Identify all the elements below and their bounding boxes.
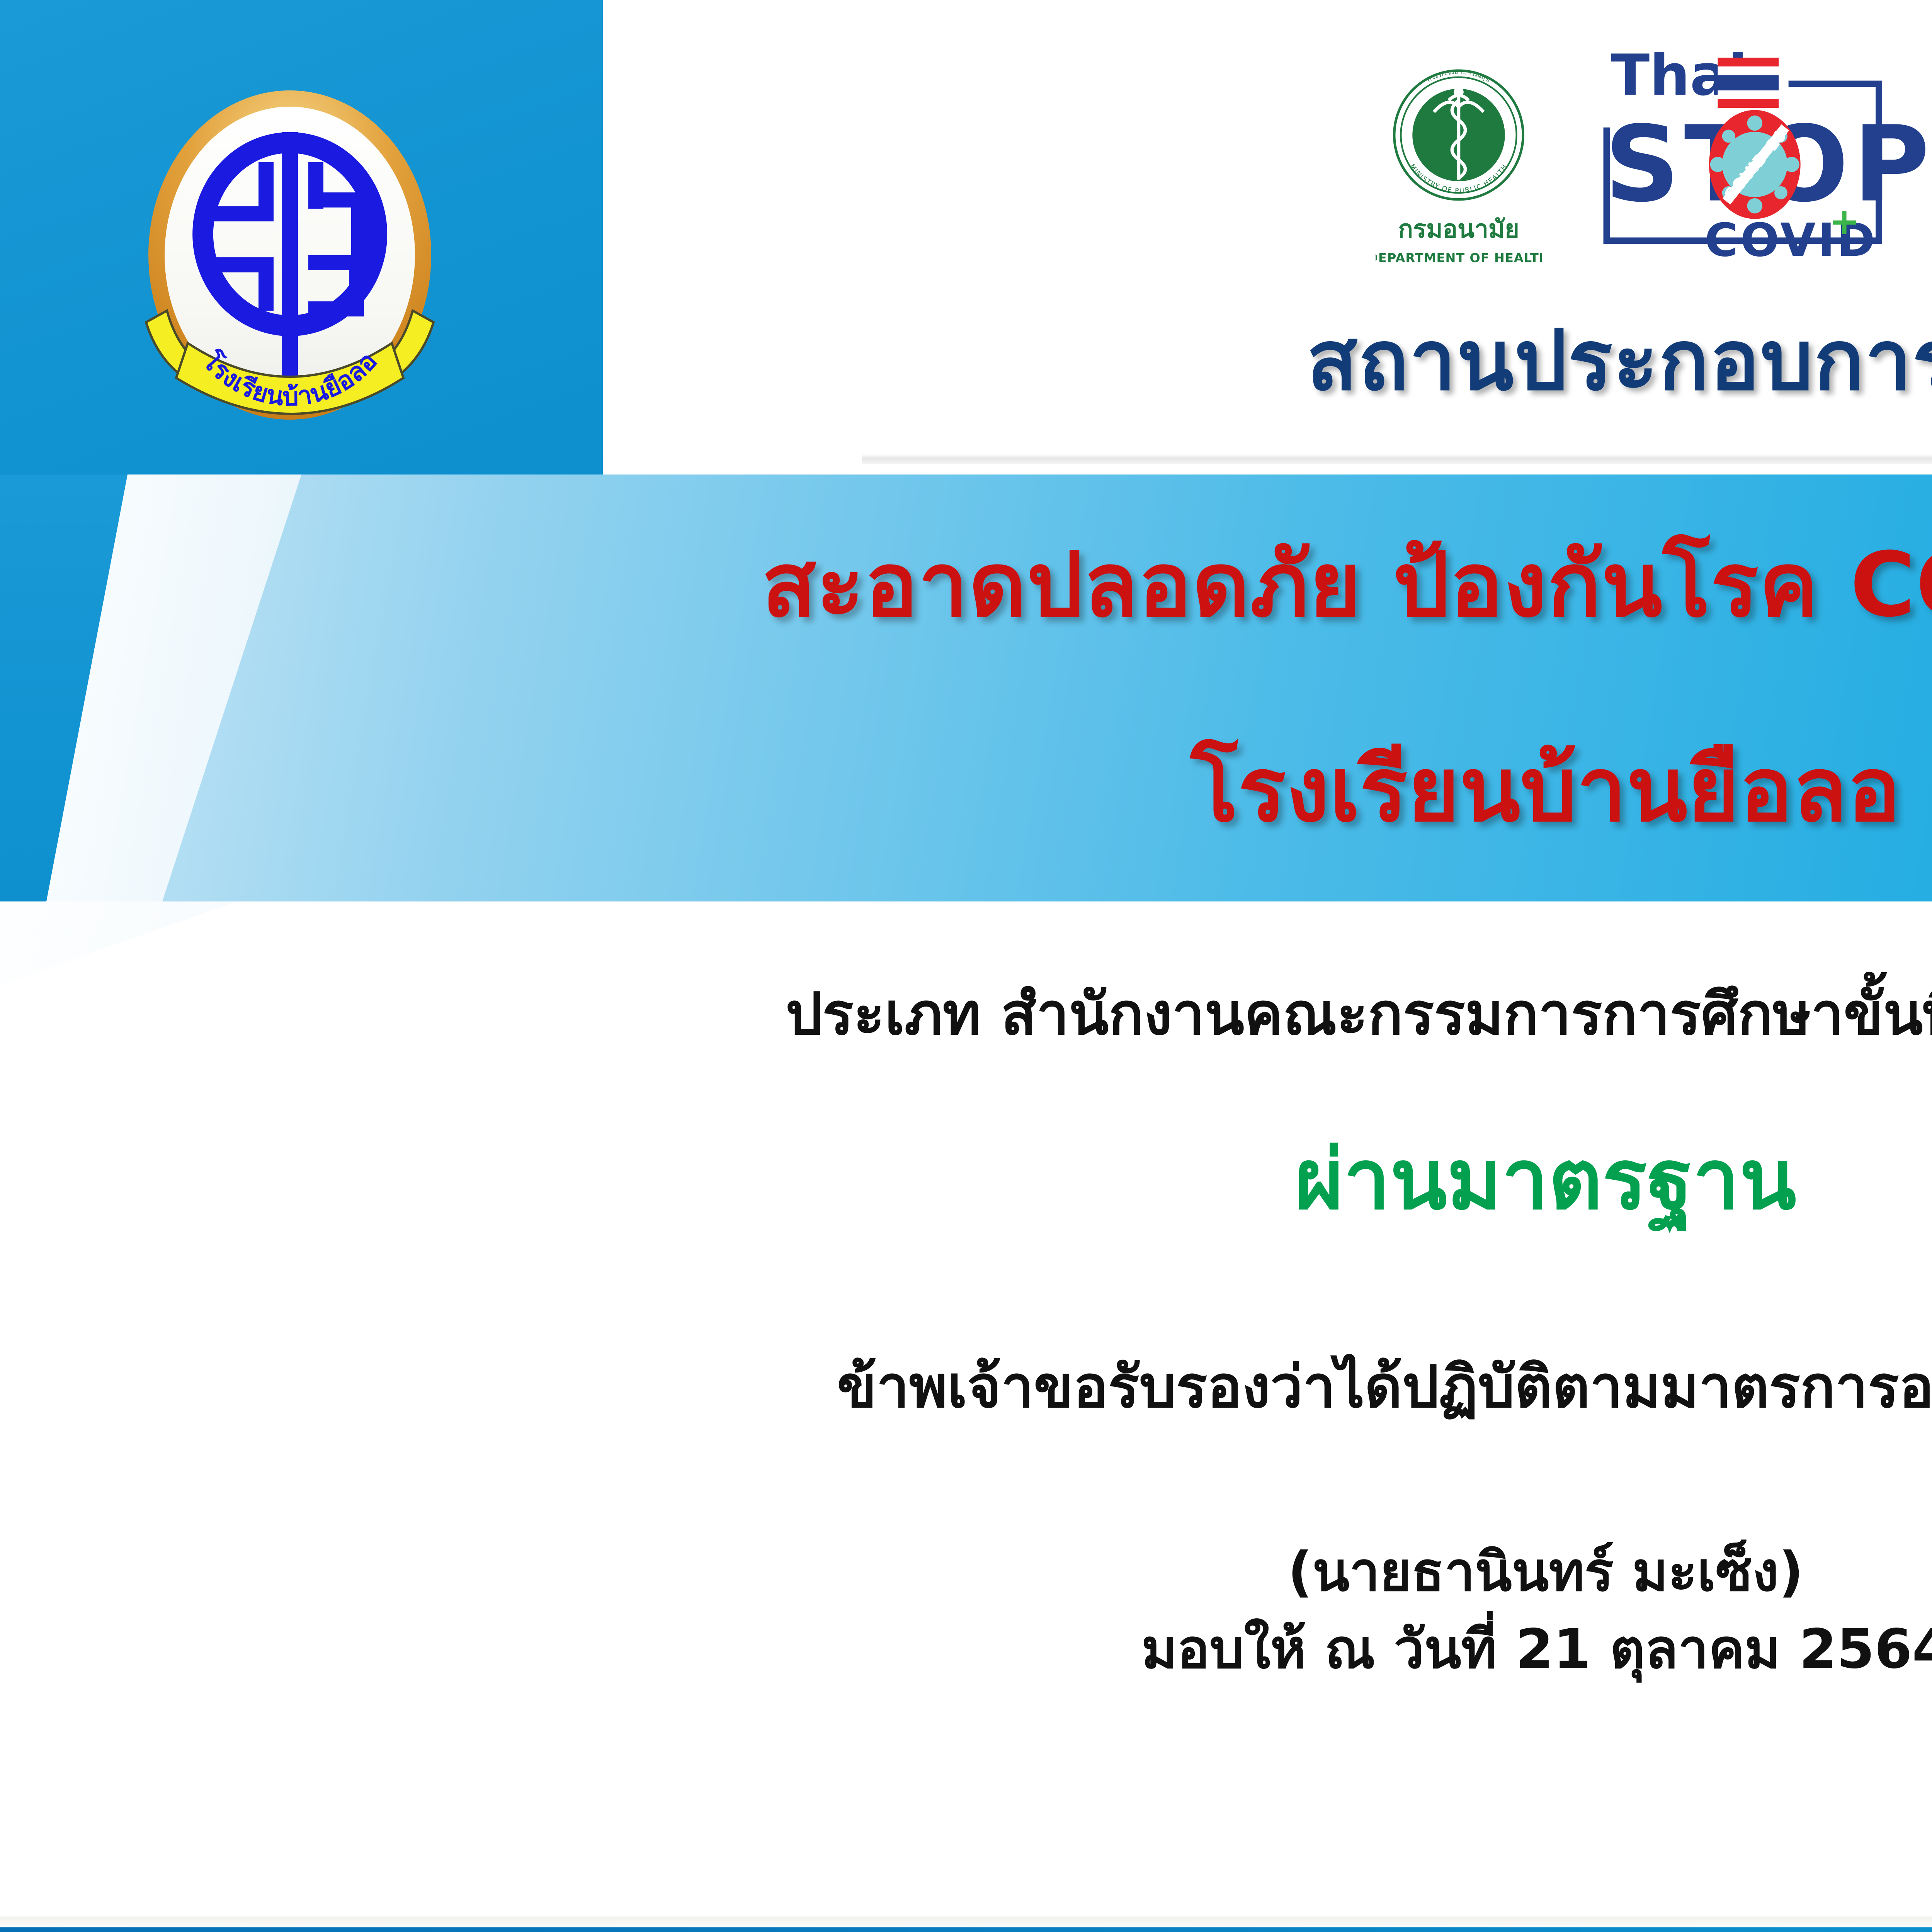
school-logo: โรงเรียนบ้านยือลอ — [116, 81, 464, 429]
header-logo-group: กระทรวงสาธารณสุข MINISTRY OF PUBLIC HEAL… — [1376, 43, 1932, 294]
covid-virus-icon: COVID-19 — [1709, 110, 1801, 219]
result-status-text: ผ่านมาตรฐาน — [0, 1113, 1932, 1245]
footer-blue-band — [0, 1927, 1932, 1932]
headline-text: สะอาดปลอดภัย ป้องกันโรค COVID-19 — [0, 514, 1932, 655]
certificate-page: โรงเรียนบ้านยือลอ — [0, 0, 1932, 1932]
page-title: สถานประกอบการ สถานศึกษา — [696, 317, 1932, 404]
title-divider — [862, 454, 1932, 464]
footer-top-hairline — [0, 1917, 1932, 1927]
school-name-text: โรงเรียนบ้านยือลอ — [0, 719, 1932, 860]
issued-date-line: มอบให้ ณ วันที่ 21 ตุลาคม 2564 — [0, 1605, 1932, 1692]
category-line: ประเภท สำนักงานคณะกรรมการการศึกษาขั้นพื้… — [0, 968, 1932, 1060]
tsc-plus-mark: + — [1829, 200, 1860, 243]
pledge-text: ข้าพเจ้าขอรับรองว่าได้ปฏิบัติตามมาตรการอ… — [0, 1341, 1932, 1433]
doh-thai-label: กรมอนามัย — [1398, 215, 1519, 244]
doh-english-label: DEPARTMENT OF HEALTH — [1376, 251, 1542, 265]
thai-stop-covid-logo: Thai STOP — [1565, 43, 1932, 282]
thai-flag-icon — [1718, 58, 1779, 108]
signer-name: (นายธานินทร์ มะเซ็ง) — [0, 1528, 1932, 1614]
department-of-health-logo: กระทรวงสาธารณสุข MINISTRY OF PUBLIC HEAL… — [1376, 43, 1542, 282]
